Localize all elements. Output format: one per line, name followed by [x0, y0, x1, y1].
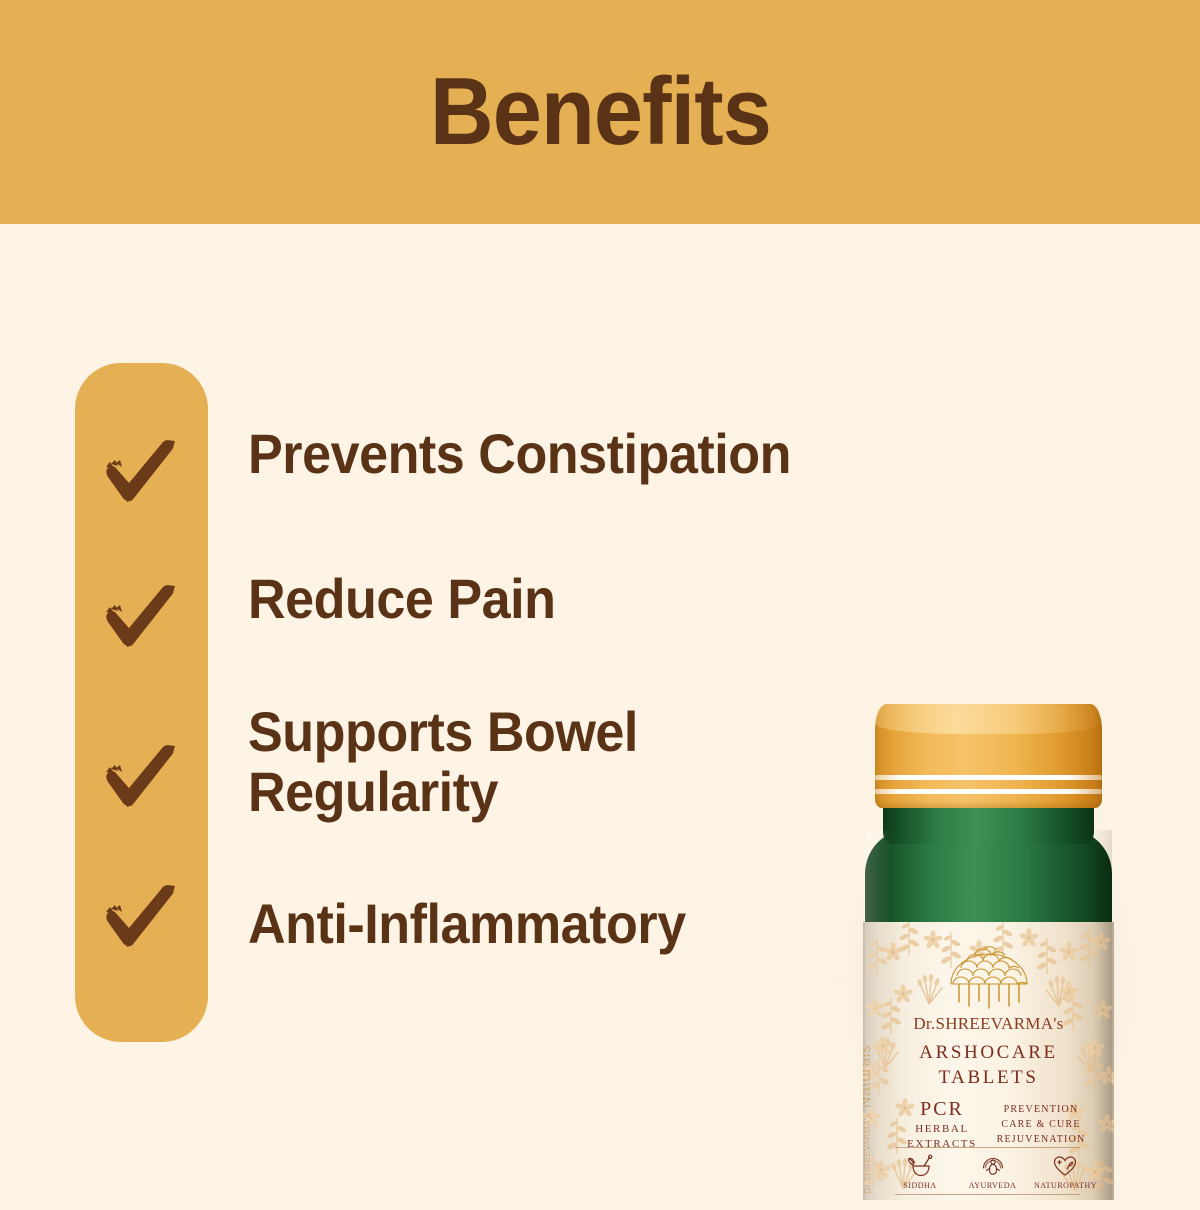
page-title: Benefits: [429, 64, 770, 160]
checkmark-column: [75, 363, 208, 1042]
label-pcr-block: PCR HERBAL EXTRACTS: [897, 1098, 987, 1152]
product-name-line-2: TABLETS: [863, 1065, 1114, 1090]
label-divider: [895, 1194, 1080, 1195]
heart-leaf-icon: [1034, 1153, 1096, 1179]
cap-stripe: [875, 789, 1102, 794]
mortar-and-pestle-icon: [889, 1153, 951, 1179]
benefit-item-label: Supports Bowel Regularity: [248, 702, 713, 823]
cap-stripe: [875, 775, 1102, 780]
modality-label: SIDDHA: [889, 1181, 951, 1190]
header-bar: Benefits: [0, 0, 1200, 224]
modality-ayurveda: AYURVEDA: [962, 1153, 1024, 1190]
label-claims-block: PREVENTION CARE & CURE REJUVENATION: [988, 1102, 1094, 1148]
side-text-main: Naturals: [863, 1045, 874, 1109]
product-bottle-image: Dr.SHREEVARMA's ARSHOCARE TABLETS PCR HE…: [845, 690, 1145, 1200]
benefit-item-label: Reduce Pain: [248, 569, 555, 629]
pcr-main-text: PCR: [897, 1098, 987, 1121]
label-side-text: Dr.SHREEVARMA's Naturals: [863, 1044, 875, 1194]
label-divider: [895, 1147, 1080, 1148]
check-icon: [101, 881, 183, 951]
side-text-brand: Dr.SHREEVARMA's: [863, 1113, 872, 1193]
modality-label: NATUROPATHY: [1034, 1181, 1096, 1190]
meditating-figure-icon: [962, 1153, 1024, 1179]
cap-highlight: [875, 704, 1102, 734]
claim-line-1: PREVENTION: [988, 1102, 1094, 1117]
bottle-label: Dr.SHREEVARMA's ARSHOCARE TABLETS PCR HE…: [863, 922, 1114, 1200]
modality-label: AYURVEDA: [962, 1181, 1024, 1190]
claim-line-3: REJUVENATION: [988, 1132, 1094, 1147]
check-icon: [101, 436, 183, 506]
label-brand: Dr.SHREEVARMA's: [863, 1014, 1114, 1034]
product-name-line-1: ARSHOCARE: [863, 1040, 1114, 1065]
dome-mandala-icon: [943, 944, 1035, 1010]
label-product-name: ARSHOCARE TABLETS: [863, 1040, 1114, 1090]
benefit-item-label: Anti-Inflammatory: [248, 894, 686, 954]
label-modalities-row: SIDDHA: [889, 1153, 1096, 1190]
pcr-sub-line-2: EXTRACTS: [897, 1137, 987, 1152]
pcr-sub-line-1: HERBAL: [897, 1122, 987, 1137]
benefit-item-label: Prevents Constipation: [248, 424, 791, 484]
claim-line-2: CARE & CURE: [988, 1117, 1094, 1132]
check-icon: [101, 741, 183, 811]
modality-siddha: SIDDHA: [889, 1153, 951, 1190]
check-icon: [101, 581, 183, 651]
modality-naturopathy: NATUROPATHY: [1034, 1153, 1096, 1190]
